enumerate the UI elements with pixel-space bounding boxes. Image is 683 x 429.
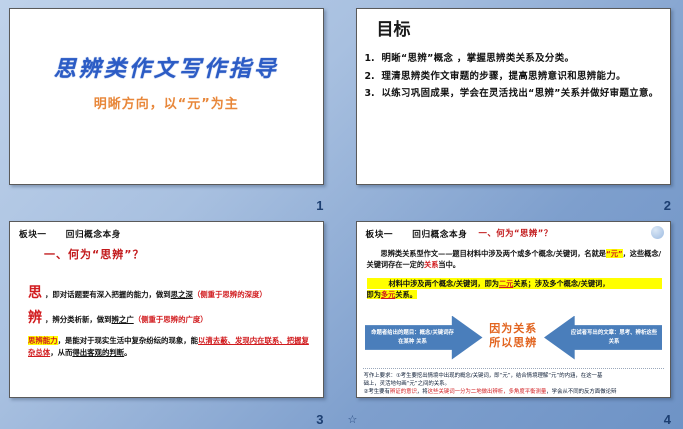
para2-line2-a: 即为 [367,290,381,299]
conclusion-part1: ，是能对于现实生活中复杂纷纭的现象，能 [58,336,198,345]
para2-line1-red: 二元 [499,279,513,288]
left-arrow-label: 命题者给出的题目：概念/关键词存在某种 关系 [369,329,457,345]
center-line-2: 所以思辨 [489,336,537,351]
slide-1-title-block: 思辨类作文写作指导 明晰方向，以“元”为主 [10,51,323,112]
slide-4-question: 一、何为“思辨”？ [479,227,553,239]
para1-red-word: 关系 [424,260,438,269]
definition-underline: 思之深 [171,290,193,299]
definition-note: （侧重于思辨的深度） [193,290,267,299]
list-item: 2. 理清思辨类作文审题的步骤，提高思辨意识和思辨能力。 [365,69,663,85]
slide-4-note: 写作上要求：①考生要挖出情境中出现的概念/关键词，即“元”，结合情境理解“元”的… [364,372,665,399]
list-item-number: 1. [365,51,382,67]
glyph-si: 思 [28,284,42,303]
slide-1[interactable]: 思辨类作文写作指导 明晰方向，以“元”为主 [9,8,324,185]
page-number-4: 4 [664,412,671,427]
diagram-center-text: 因为关系 所以思辨 [489,322,537,352]
section-label: 板块一 [366,230,394,240]
left-arrow-icon: 命题者给出的题目：概念/关键词存在某种 关系 [365,316,483,360]
para1-part2: 就是 [592,249,606,258]
para2-line1-b: 关系；涉及多个概念/关键词， [513,279,609,288]
slide-2-goal-list: 1. 明晰“思辨”概念 ，掌握思辨类关系及分类。 2. 理清思辨类作文审题的步骤… [365,51,663,104]
page-number-2: 2 [664,198,671,213]
definition-plain: ，即对话题要有深入把握的能力，做到 [45,290,171,299]
list-item-text: 明晰“思辨”概念 ，掌握思辨类关系及分类。 [382,51,663,67]
list-item-number: 3. [365,86,382,102]
note-line3-b: ，将 [417,389,428,395]
definition-text: ，辨分类析新，做到辨之广（侧重于思辨的广度） [45,315,208,325]
note-line-2: 础上，灵活地勾画“元”之间的关系。 [364,380,665,388]
slide-3-conclusion: 思辨能力，是能对于现实生活中复杂纷纭的现象，能以清去蔽、发现内在联系、把握复杂总… [28,335,313,358]
list-item-number: 2. [365,69,382,85]
slide-thumbnail-grid: 思辨类作文写作指导 明晰方向，以“元”为主 1 目标 1. 明晰“思辨”概念 ，… [0,0,683,429]
star-icon: ☆ [348,415,358,426]
slide-4-divider [363,368,665,369]
right-arrow-label: 应试者写出的文章：思考、辨析这些关系 [570,329,658,345]
slide-2[interactable]: 目标 1. 明晰“思辨”概念 ，掌握思辨类关系及分类。 2. 理清思辨类作文审题… [356,8,672,185]
slide-4[interactable]: 板块一 回归概念本身 一、何为“思辨”？ 思辨类关系型作文——题目材料中涉及两个… [356,221,672,399]
section-label: 板块一 [19,230,47,240]
list-item: 1. 明晰“思辨”概念 ，掌握思辨类关系及分类。 [365,51,663,67]
note-line3-red-2: 这些关键词一分为二地做出辨析，多角度平衡测量 [428,389,547,395]
page-number-1: 1 [316,198,323,213]
list-item: 3. 以练习巩固成果，学会在灵活找出“思辨”关系并做好审题立意。 [365,86,663,102]
note-line3-a: ②考生要有 [364,389,390,395]
slide-cell-1[interactable]: 思辨类作文写作指导 明晰方向，以“元”为主 1 [0,0,342,215]
slide-4-paragraph-2: 材料中涉及两个概念/关键词，即为二元关系；涉及多个概念/关键词， 即为多元关系。 [367,278,663,301]
conclusion-part3: 。 [124,348,131,357]
note-line-1: 写作上要求：①考生要挖出情境中出现的概念/关键词，即“元”，结合情境理解“元”的… [364,372,665,380]
note-line-3: ②考生要有辨证的意识，将这些关键词一分为二地做出辨析，多角度平衡测量，学会从不同… [364,388,665,396]
definition-note: （侧重于思辨的广度） [134,315,208,324]
list-item-text: 以练习巩固成果，学会在灵活找出“思辨”关系并做好审题立意。 [382,86,663,102]
slide-3-question: 一、何为“思辨”？ [44,246,144,262]
conclusion-highlight: 思辨能力 [28,336,58,345]
list-item-text: 理清思辨类作文审题的步骤，提高思辨意识和思辨能力。 [382,69,663,85]
para1-part1: 思辨类关系型作文——题目材料中涉及两个或多个概念/关键词，名 [381,249,592,258]
para2-line1-a: 材料中涉及两个概念/关键词，即为 [389,279,499,288]
slide-3-section-header: 板块一 回归概念本身 [19,228,121,240]
slide-4-section-header: 板块一 回归概念本身 [366,228,468,240]
definition-plain: ，辨分类析新，做到 [45,315,112,324]
slide-4-arrow-diagram: 命题者给出的题目：概念/关键词存在某种 关系 因为关系 所以思辨 应试者写出的文… [365,312,663,364]
right-arrow-icon: 应试者写出的文章：思考、辨析这些关系 [544,316,662,360]
definition-row-bian: 辨 ，辨分类析新，做到辨之广（侧重于思辨的广度） [28,309,313,328]
center-line-1: 因为关系 [489,322,537,337]
page-number-3: 3 [316,412,323,427]
slide-cell-3[interactable]: 板块一 回归概念本身 一、何为“思辨”？ 思 ，即对话题要有深入把握的能力，做到… [0,215,342,429]
conclusion-emphasis-2: 得出客观的判断 [72,348,124,357]
section-title: 回归概念本身 [66,230,121,240]
note-line-4: 的论述，把握关键词之间的关系，进而达到思考的深刻性要求。 [364,397,665,398]
section-title: 回归概念本身 [412,230,467,240]
slide-4-paragraph-1: 思辨类关系型作文——题目材料中涉及两个或多个概念/关键词，名就是“元”，这些概念… [367,248,663,271]
slide-1-subtitle: 明晰方向，以“元”为主 [10,93,323,112]
para1-part4: 当中。 [438,260,460,269]
para2-line2-b: 关系。 [395,290,417,299]
para2-line-2: 即为多元关系。 [367,289,663,301]
slide-2-title: 目标 [377,15,411,40]
watermark-logo-icon [651,226,664,239]
slide-3-body: 思 ，即对话题要有深入把握的能力，做到思之深（侧重于思辨的深度） 辨 ，辨分类析… [28,284,313,359]
definition-row-si: 思 ，即对话题要有深入把握的能力，做到思之深（侧重于思辨的深度） [28,284,313,303]
conclusion-part2: ，从而 [50,348,72,357]
note-line3-red-1: 辨证的意识 [390,389,417,395]
para2-line-1: 材料中涉及两个概念/关键词，即为二元关系；涉及多个概念/关键词， [367,278,663,290]
definition-text: ，即对话题要有深入把握的能力，做到思之深（侧重于思辨的深度） [45,290,267,300]
note-line3-c: ，学会从不同的反方面做论辩 [546,389,616,395]
para1-highlight: “元” [606,249,623,258]
para2-line2-red: 多元 [381,290,395,299]
para2-line2-wrap: 即为多元关系。 [367,290,417,299]
definition-underline: 辨之广 [112,315,134,324]
slide-cell-4[interactable]: ☆ 板块一 回归概念本身 一、何为“思辨”？ 思辨类关系型作文——题目材料中涉及… [342,215,683,429]
slide-3[interactable]: 板块一 回归概念本身 一、何为“思辨”？ 思 ，即对话题要有深入把握的能力，做到… [9,221,324,399]
slide-1-title: 思辨类作文写作指导 [10,51,323,83]
slide-cell-2[interactable]: 目标 1. 明晰“思辨”概念 ，掌握思辨类关系及分类。 2. 理清思辨类作文审题… [342,0,683,215]
glyph-bian: 辨 [28,309,42,328]
